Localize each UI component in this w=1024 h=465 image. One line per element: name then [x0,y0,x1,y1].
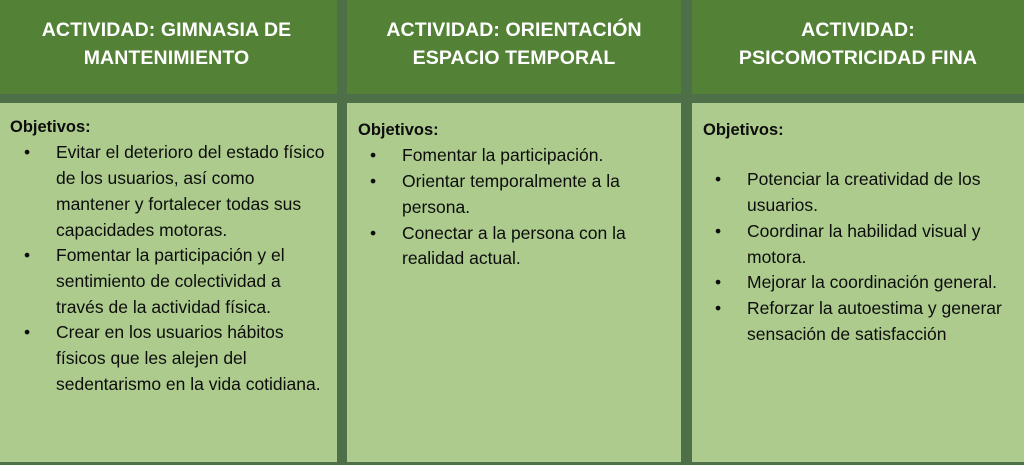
objectives-label: Objetivos: [358,120,669,141]
objectives-label: Objetivos: [703,120,1012,141]
objectives-list-orientacion: • Fomentar la participación. • Orientar … [358,143,669,272]
bullet-icon: • [715,167,721,193]
list-item-text: Orientar temporalmente a la persona. [402,171,620,217]
list-item: • Mejorar la coordinación general. [703,270,1012,296]
list-item-text: Fomentar la participación y el sentimien… [56,245,285,316]
list-item: • Crear en los usuarios hábitos físicos … [10,320,325,397]
bullet-icon: • [715,296,721,322]
list-item: • Orientar temporalmente a la persona. [358,169,669,220]
list-item-text: Coordinar la habilidad visual y motora. [747,221,980,267]
activities-table: ACTIVIDAD: GIMNASIA DE MANTENIMIENTO Obj… [0,0,1024,465]
bullet-icon: • [715,270,721,296]
bullet-icon: • [24,320,30,346]
list-item-text: Mejorar la coordinación general. [747,272,997,292]
list-item-text: Conectar a la persona con la realidad ac… [402,223,626,269]
list-item: • Coordinar la habilidad visual y motora… [703,219,1012,270]
bullet-icon: • [24,140,30,166]
list-item-text: Reforzar la autoestima y generar sensaci… [747,298,1002,344]
bullet-icon: • [24,243,30,269]
list-item-text: Evitar el deterioro del estado físico de… [56,142,324,239]
list-item-text: Fomentar la participación. [402,145,603,165]
objectives-list-psicomotricidad: • Potenciar la creatividad de los usuari… [703,167,1012,347]
header-body-divider [692,94,1024,103]
column-header-orientacion: ACTIVIDAD: ORIENTACIÓN ESPACIO TEMPORAL [347,0,681,94]
activity-column-gimnasia: ACTIVIDAD: GIMNASIA DE MANTENIMIENTO Obj… [0,0,337,465]
column-header-gimnasia: ACTIVIDAD: GIMNASIA DE MANTENIMIENTO [0,0,337,94]
column-body-psicomotricidad: Objetivos: • Potenciar la creatividad de… [692,103,1024,462]
column-separator-2 [681,0,692,465]
list-item: • Fomentar la participación y el sentimi… [10,243,325,320]
column-header-psicomotricidad: ACTIVIDAD: PSICOMOTRICIDAD FINA [692,0,1024,94]
activity-column-psicomotricidad: ACTIVIDAD: PSICOMOTRICIDAD FINA Objetivo… [692,0,1024,465]
list-item: • Fomentar la participación. [358,143,669,169]
bullet-icon: • [370,143,376,169]
header-body-divider [0,94,337,103]
column-body-gimnasia: Objetivos: • Evitar el deterioro del est… [0,103,337,462]
list-item: • Evitar el deterioro del estado físico … [10,140,325,243]
list-item-text: Potenciar la creatividad de los usuarios… [747,169,980,215]
list-item: • Reforzar la autoestima y generar sensa… [703,296,1012,347]
bullet-icon: • [370,169,376,195]
column-body-orientacion: Objetivos: • Fomentar la participación. … [347,103,681,462]
bullet-icon: • [370,221,376,247]
activity-column-orientacion: ACTIVIDAD: ORIENTACIÓN ESPACIO TEMPORAL … [347,0,681,465]
list-item: • Potenciar la creatividad de los usuari… [703,167,1012,218]
objectives-list-gimnasia: • Evitar el deterioro del estado físico … [10,140,325,397]
column-separator-1 [337,0,347,465]
list-item: • Conectar a la persona con la realidad … [358,221,669,272]
header-body-divider [347,94,681,103]
bullet-icon: • [715,219,721,245]
list-item-text: Crear en los usuarios hábitos físicos qu… [56,322,321,393]
objectives-label: Objetivos: [10,117,325,138]
